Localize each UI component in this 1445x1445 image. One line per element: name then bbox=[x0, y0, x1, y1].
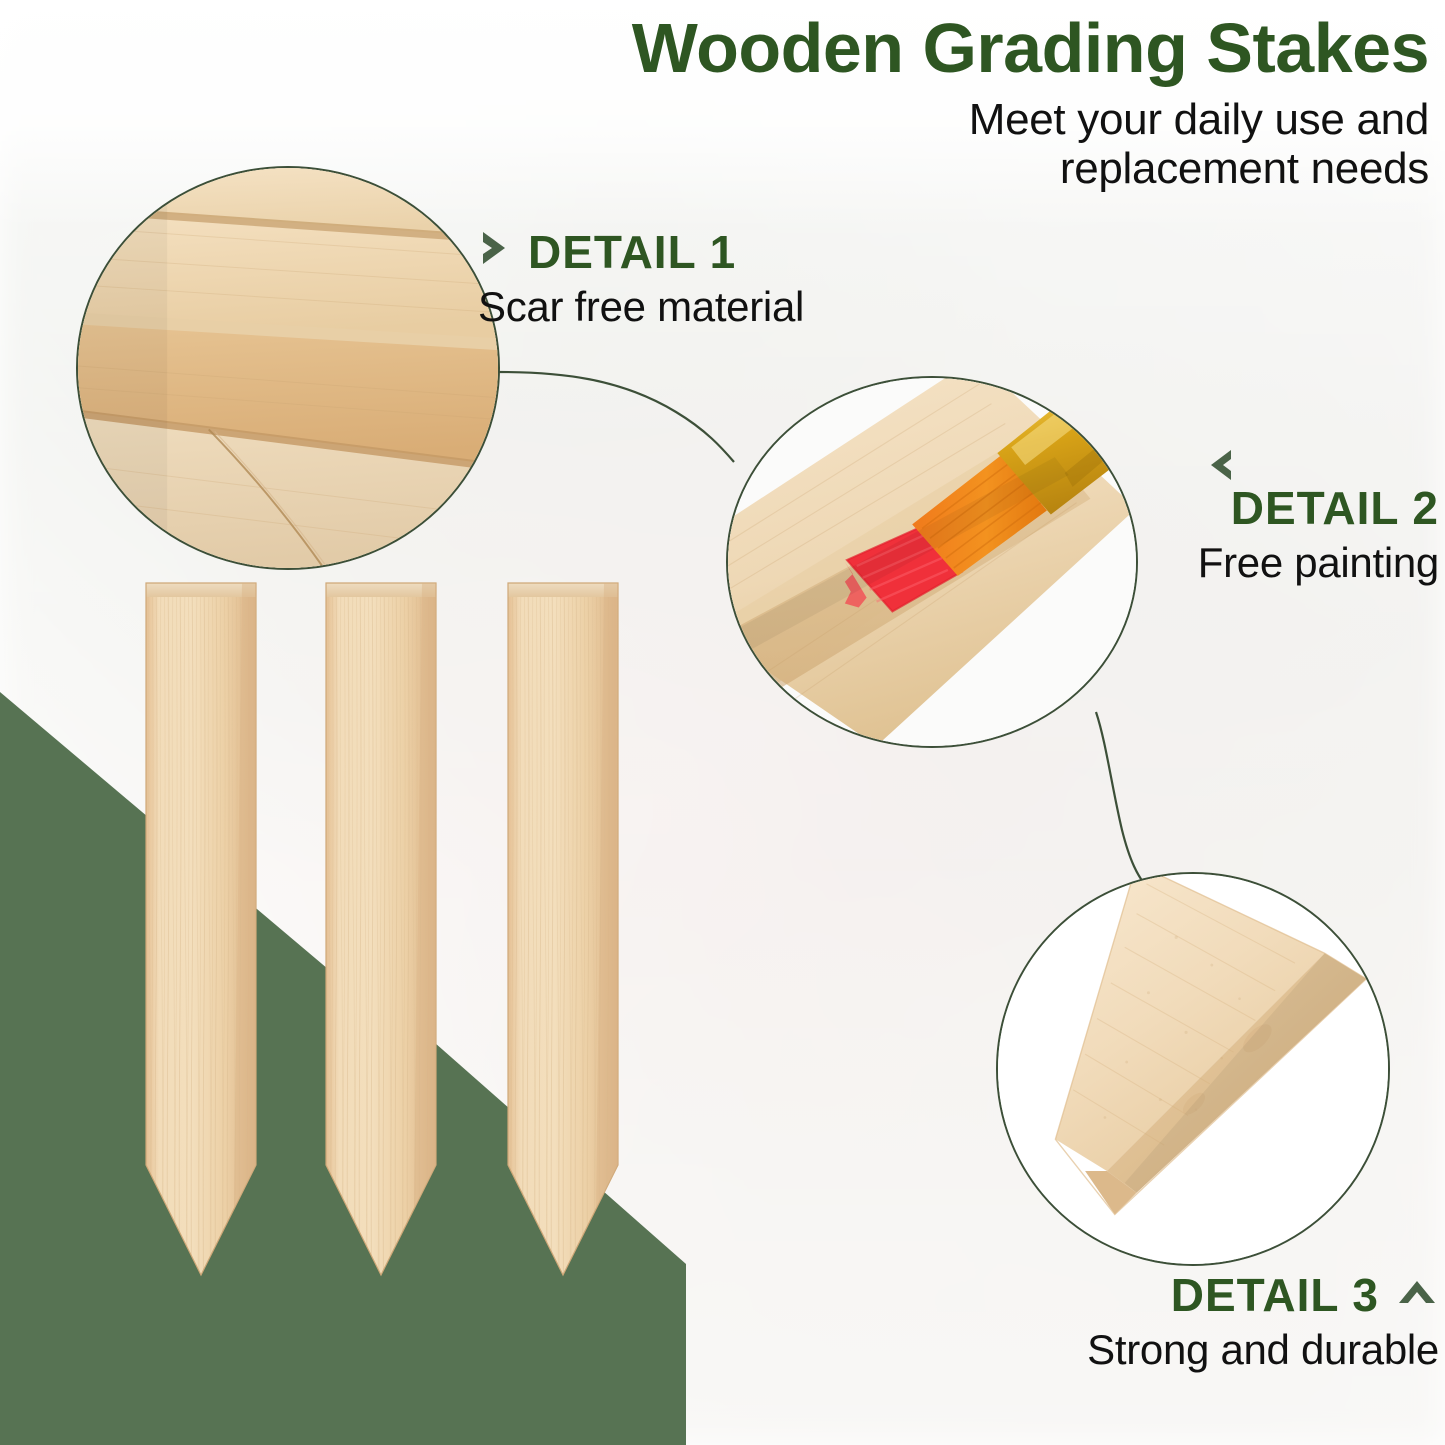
detail-1-description: Scar free material bbox=[478, 283, 804, 330]
page-subtitle: Meet your daily use and replacement need… bbox=[329, 95, 1429, 194]
page-title: Wooden Grading Stakes bbox=[329, 12, 1429, 85]
detail-3-photo-circle bbox=[996, 872, 1390, 1266]
detail-1-photo-circle bbox=[76, 166, 500, 570]
stake-2 bbox=[326, 583, 436, 1275]
detail-3-description: Strong and durable bbox=[1087, 1326, 1439, 1373]
detail-2-kicker-row: DETAIL 2 bbox=[1198, 485, 1439, 531]
detail-1-kicker-label: DETAIL 1 bbox=[528, 229, 736, 275]
headline-block: Wooden Grading Stakes Meet your daily us… bbox=[329, 12, 1429, 193]
chevron-up-icon bbox=[1395, 1272, 1439, 1318]
detail-1-callout: DETAIL 1 Scar free material bbox=[478, 228, 804, 330]
detail-3-kicker-row: DETAIL 3 bbox=[1087, 1272, 1439, 1318]
detail-3-kicker-label: DETAIL 3 bbox=[1171, 1272, 1379, 1318]
chevron-right-icon bbox=[478, 228, 512, 275]
page-subtitle-line-1: Meet your daily use and bbox=[969, 95, 1429, 144]
page-subtitle-line-2: replacement needs bbox=[1060, 144, 1429, 193]
detail-3-callout: DETAIL 3 Strong and durable bbox=[1087, 1272, 1439, 1373]
stake-3 bbox=[508, 583, 618, 1275]
detail-2-description: Free painting bbox=[1198, 539, 1439, 586]
stake-1 bbox=[146, 583, 256, 1275]
infographic-canvas: Wooden Grading Stakes Meet your daily us… bbox=[0, 0, 1445, 1445]
detail-1-kicker-row: DETAIL 1 bbox=[478, 228, 804, 275]
detail-2-callout: DETAIL 2 Free painting bbox=[1198, 448, 1439, 586]
stake-group bbox=[130, 575, 640, 1445]
detail-2-photo-circle bbox=[726, 376, 1138, 748]
detail-2-kicker-label: DETAIL 2 bbox=[1231, 485, 1439, 531]
